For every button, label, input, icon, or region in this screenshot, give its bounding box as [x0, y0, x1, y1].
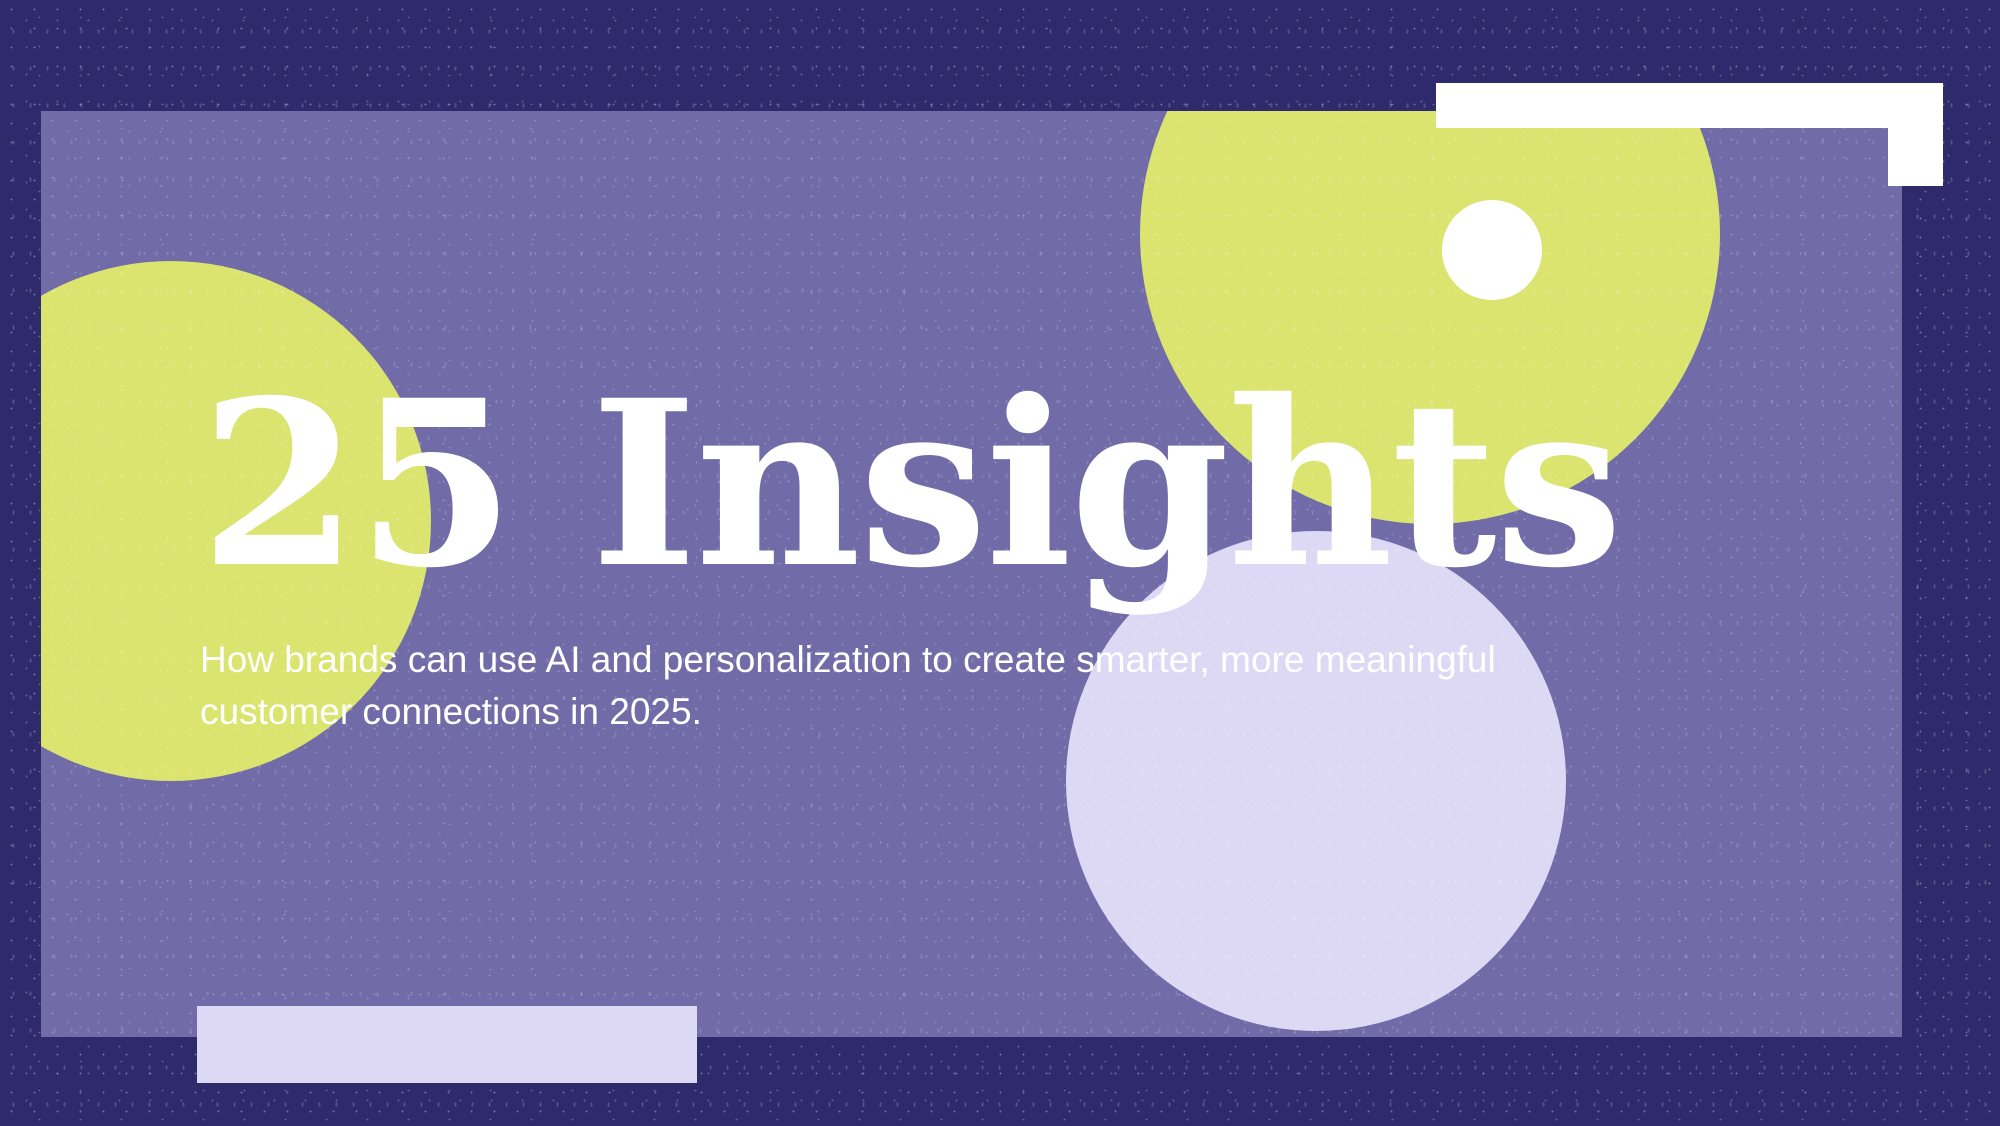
- white-dot-decoration: [1442, 200, 1542, 300]
- text-block: 25 Insights How brands can use AI and pe…: [200, 380, 1700, 739]
- slide-title: 25 Insights: [200, 380, 1700, 590]
- slide-subtitle: How brands can use AI and personalizatio…: [200, 634, 1500, 739]
- white-bar-horizontal-decoration: [1436, 83, 1943, 128]
- slide-canvas: 25 Insights How brands can use AI and pe…: [0, 0, 2000, 1126]
- white-bar-vertical-decoration: [1888, 83, 1943, 186]
- lavender-bar-decoration: [197, 1006, 697, 1083]
